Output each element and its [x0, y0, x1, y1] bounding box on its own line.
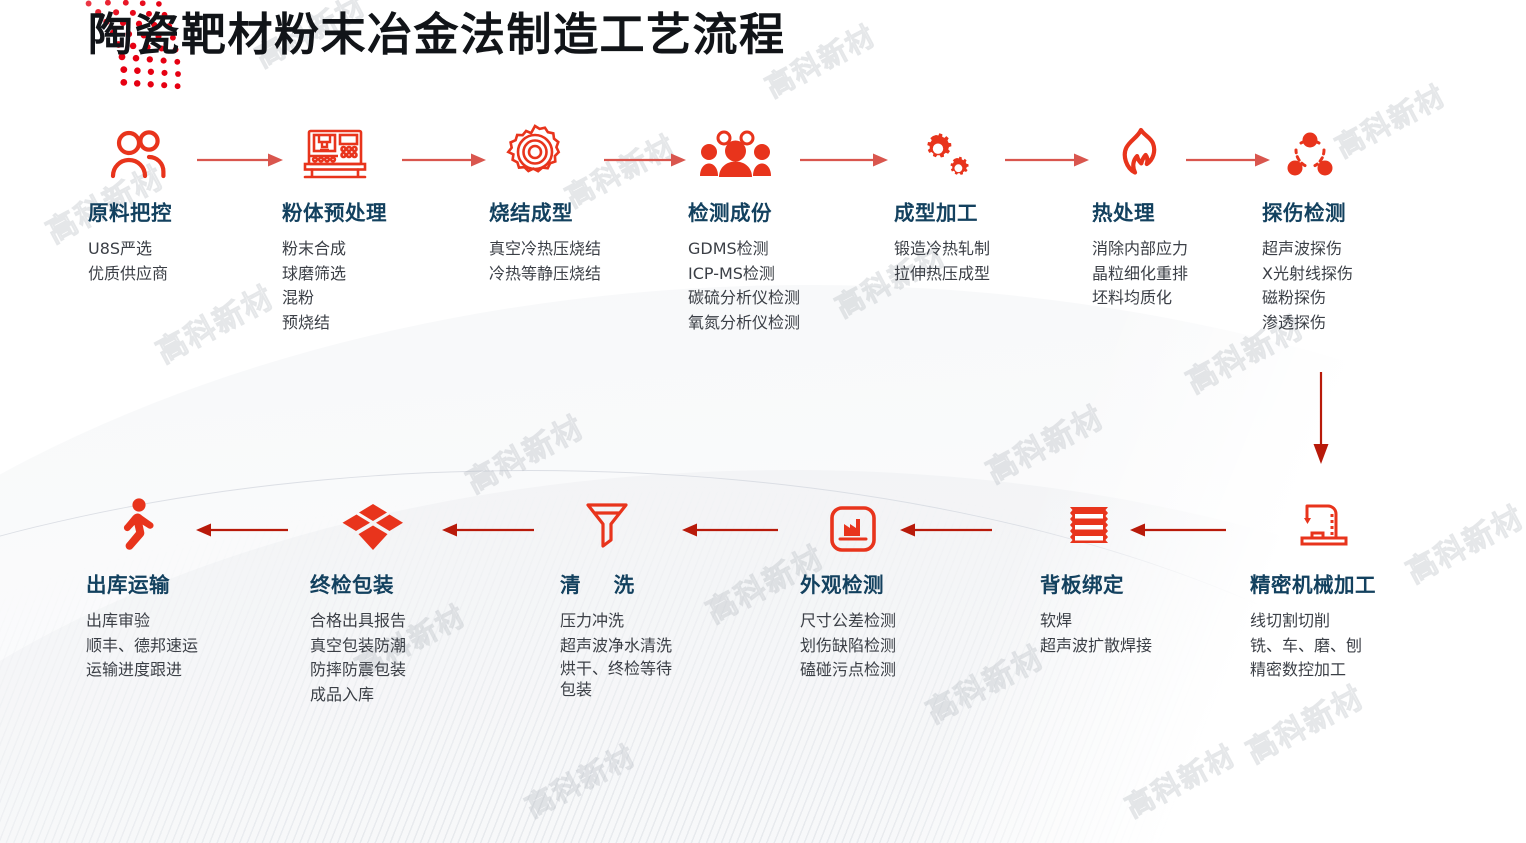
- step-heading: 背板绑定: [1040, 568, 1152, 598]
- step-heading: 出库运输: [86, 568, 198, 598]
- inspection-plant-icon: [830, 500, 896, 552]
- step-detail-item: 超声波探伤: [1262, 237, 1353, 262]
- step-detail-item: 拉伸热压成型: [894, 262, 990, 287]
- process-step-原料把控[interactable]: 原料把控U8S严选优质供应商: [88, 128, 172, 286]
- process-step-粉体预处理[interactable]: 粉体预处理粉末合成球磨筛选混粉预烧结: [282, 128, 387, 336]
- step-detail-item: 碳硫分析仪检测: [688, 286, 800, 311]
- step-heading: 粉体预处理: [282, 196, 387, 226]
- process-step-成型加工[interactable]: 成型加工锻造冷热轧制拉伸热压成型: [894, 128, 990, 286]
- step-detail-list: 消除内部应力晶粒细化重排坯料均质化: [1092, 237, 1188, 311]
- step-detail-item: 尺寸公差检测: [800, 609, 896, 634]
- process-step-热处理[interactable]: 热处理消除内部应力晶粒细化重排坯料均质化: [1092, 128, 1188, 311]
- step-detail-item: 划伤缺陷检测: [800, 634, 896, 659]
- step-detail-item: 成品入库: [310, 683, 406, 708]
- flow-arrow-right-4: [800, 152, 888, 168]
- flow-arrow-right-2: [402, 152, 486, 168]
- flow-arrow-right-6: [1186, 152, 1270, 168]
- step-heading: 探伤检测: [1262, 196, 1353, 226]
- step-detail-item: 压力冲洗: [560, 609, 672, 634]
- step-detail-list: 合格出具报告真空包装防潮防摔防震包装成品入库: [310, 609, 406, 708]
- people-group-icon: [700, 128, 800, 180]
- step-detail-item: 锻造冷热轧制: [894, 237, 990, 262]
- step-detail-item: 预烧结: [282, 311, 387, 336]
- step-detail-item: 铣、车、磨、刨: [1250, 634, 1376, 659]
- open-box-icon: [340, 500, 406, 552]
- step-detail-item: 冷热等静压烧结: [489, 262, 601, 287]
- step-heading: 外观检测: [800, 568, 896, 598]
- step-detail-list: 尺寸公差检测划伤缺陷检测磕碰污点检测: [800, 609, 896, 683]
- process-step-清 洗[interactable]: 清 洗压力冲洗超声波净水清洗烘干、终检等待包装: [560, 500, 672, 700]
- vertical-connector-arrow: [1306, 372, 1336, 466]
- step-heading: 原料把控: [88, 196, 172, 226]
- step-detail-list: 锻造冷热轧制拉伸热压成型: [894, 237, 990, 286]
- step-detail-item: 软焊: [1040, 609, 1152, 634]
- process-step-检测成份[interactable]: 检测成份GDMS检测ICP-MS检测碳硫分析仪检测氧氮分析仪检测: [688, 128, 800, 336]
- process-row-top: 原料把控U8S严选优质供应商 粉体预处理粉末合成球磨筛选混粉预烧结 烧结成型真空…: [0, 128, 1526, 338]
- funnel-icon: [584, 500, 672, 552]
- step-heading: 精密机械加工: [1250, 568, 1376, 598]
- step-detail-item: 真空冷热压烧结: [489, 237, 601, 262]
- flow-arrow-left-3: [682, 522, 778, 538]
- step-detail-item: U8S严选: [88, 237, 172, 262]
- step-detail-list: U8S严选优质供应商: [88, 237, 172, 286]
- step-detail-item: 运输进度跟进: [86, 658, 198, 683]
- process-step-终检包装[interactable]: 终检包装合格出具报告真空包装防潮防摔防震包装成品入库: [310, 500, 406, 708]
- step-detail-item: 消除内部应力: [1092, 237, 1188, 262]
- step-detail-item: 粉末合成: [282, 237, 387, 262]
- flow-arrow-right-5: [1005, 152, 1089, 168]
- step-detail-item: 混粉: [282, 286, 387, 311]
- step-heading: 成型加工: [894, 196, 990, 226]
- process-row-bottom: 出库运输出库审验顺丰、德邦速运运输进度跟进 终检包装合格出具报告真空包装防潮防摔…: [0, 500, 1526, 720]
- step-detail-list: 真空冷热压烧结冷热等静压烧结: [489, 237, 601, 286]
- step-detail-item: 磁粉探伤: [1262, 286, 1353, 311]
- step-detail-item: 精密数控加工: [1250, 658, 1376, 683]
- flow-arrow-right-3: [604, 152, 686, 168]
- step-detail-list: 软焊超声波扩散焊接: [1040, 609, 1152, 658]
- gears-icon: [914, 128, 990, 180]
- step-detail-item: ICP-MS检测: [688, 262, 800, 287]
- process-step-出库运输[interactable]: 出库运输出库审验顺丰、德邦速运运输进度跟进: [86, 500, 198, 683]
- step-detail-list: GDMS检测ICP-MS检测碳硫分析仪检测氧氮分析仪检测: [688, 237, 800, 336]
- flow-arrow-right-1: [197, 152, 283, 168]
- three-dots-triangle-icon: [1284, 128, 1353, 180]
- step-detail-item: 渗透探伤: [1262, 311, 1353, 336]
- page-title: 陶瓷靶材粉末冶金法制造工艺流程: [88, 8, 786, 62]
- flow-arrow-left-1: [196, 522, 288, 538]
- flame-icon: [1114, 128, 1188, 180]
- flow-arrow-left-4: [900, 522, 992, 538]
- step-detail-item: 优质供应商: [88, 262, 172, 287]
- process-step-探伤检测[interactable]: 探伤检测超声波探伤X光射线探伤磁粉探伤渗透探伤: [1262, 128, 1353, 336]
- step-heading: 热处理: [1092, 196, 1188, 226]
- step-heading: 清 洗: [560, 568, 672, 598]
- step-detail-list: 压力冲洗超声波净水清洗烘干、终检等待包装: [560, 609, 672, 700]
- step-detail-item: 球磨筛选: [282, 262, 387, 287]
- step-detail-item: 超声波扩散焊接: [1040, 634, 1152, 659]
- cnc-machine-icon: [1298, 500, 1376, 552]
- press-machine-icon: [302, 128, 387, 180]
- walking-person-icon: [114, 500, 198, 552]
- process-step-精密机械加工[interactable]: 精密机械加工线切割切削铣、车、磨、刨精密数控加工: [1250, 500, 1376, 683]
- step-detail-item: 坯料均质化: [1092, 286, 1188, 311]
- process-step-外观检测[interactable]: 外观检测尺寸公差检测划伤缺陷检测磕碰污点检测: [800, 500, 896, 683]
- step-detail-item: 磕碰污点检测: [800, 658, 896, 683]
- step-detail-list: 线切割切削铣、车、磨、刨精密数控加工: [1250, 609, 1376, 683]
- process-step-烧结成型[interactable]: 烧结成型真空冷热压烧结冷热等静压烧结: [489, 128, 601, 286]
- step-detail-item: GDMS检测: [688, 237, 800, 262]
- step-detail-item: 出库审验: [86, 609, 198, 634]
- step-detail-item: X光射线探伤: [1262, 262, 1353, 287]
- step-detail-list: 超声波探伤X光射线探伤磁粉探伤渗透探伤: [1262, 237, 1353, 336]
- step-detail-item: 超声波净水清洗: [560, 634, 672, 659]
- step-detail-item: 真空包装防潮: [310, 634, 406, 659]
- step-heading: 终检包装: [310, 568, 406, 598]
- step-detail-item: 顺丰、德邦速运: [86, 634, 198, 659]
- gear-ring-icon: [506, 128, 601, 180]
- flow-arrow-left-5: [1130, 522, 1226, 538]
- step-detail-item: 烘干、终检等待包装: [560, 658, 672, 700]
- step-detail-item: 合格出具报告: [310, 609, 406, 634]
- step-detail-item: 防摔防震包装: [310, 658, 406, 683]
- step-heading: 烧结成型: [489, 196, 601, 226]
- step-detail-item: 晶粒细化重排: [1092, 262, 1188, 287]
- step-detail-item: 线切割切削: [1250, 609, 1376, 634]
- step-detail-item: 氧氮分析仪检测: [688, 311, 800, 336]
- flow-arrow-left-2: [442, 522, 534, 538]
- step-detail-list: 粉末合成球磨筛选混粉预烧结: [282, 237, 387, 336]
- step-detail-list: 出库审验顺丰、德邦速运运输进度跟进: [86, 609, 198, 683]
- step-heading: 检测成份: [688, 196, 800, 226]
- two-people-icon: [106, 128, 172, 180]
